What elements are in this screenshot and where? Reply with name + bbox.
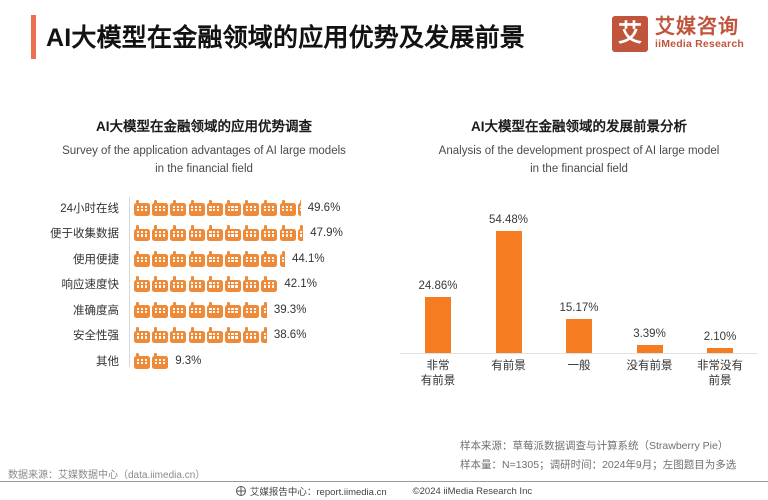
robot-icon [134, 251, 150, 267]
logo-name-cn: 艾媒咨询 [655, 17, 744, 38]
robot-icon [170, 251, 186, 267]
bar-rect [496, 231, 522, 353]
slide-page: AI大模型在金融领域的应用优势及发展前景 艾 艾媒咨询 iiMedia Rese… [0, 0, 768, 500]
robot-icon [189, 302, 205, 318]
pictogram-row: 便于收集数据47.9% [20, 220, 392, 246]
robot-icon [189, 200, 205, 216]
brand-logo: 艾 艾媒咨询 iiMedia Research [612, 16, 744, 52]
bar-rect [637, 345, 663, 353]
pictogram-row-value: 9.3% [175, 355, 201, 367]
robot-icon [152, 276, 168, 292]
robot-icon [261, 302, 267, 318]
robot-icon [261, 200, 277, 216]
robot-icon [134, 276, 150, 292]
robot-icon [243, 327, 259, 343]
robot-icon [207, 200, 223, 216]
bar-column: 15.17% [545, 193, 613, 353]
left-chart-subtitle-line1: Survey of the application advantages of … [16, 143, 392, 161]
bar-chart: 24.86%54.48%15.17%3.39%2.10% 非常有前景有前景一般没… [398, 193, 760, 381]
right-chart-subtitle: Analysis of the development prospect of … [398, 143, 760, 179]
pictogram-row-value: 39.3% [274, 304, 307, 316]
pictogram-icon-group [134, 225, 303, 241]
pictogram-row-value: 42.1% [284, 278, 317, 290]
robot-icon [225, 225, 241, 241]
robot-icon [170, 200, 186, 216]
footer-report-center[interactable]: 艾媒报告中心：report.iimedia.cn [236, 484, 387, 498]
robot-icon [243, 276, 259, 292]
right-chart-subtitle-line1: Analysis of the development prospect of … [398, 143, 760, 161]
right-chart-title: AI大模型在金融领域的发展前景分析 [398, 118, 760, 136]
bar-rect [566, 319, 592, 353]
pictogram-row-value: 44.1% [292, 253, 325, 265]
pictogram-icon-group [134, 251, 285, 267]
robot-icon [225, 327, 241, 343]
footer-copyright: ©2024 iiMedia Research Inc [413, 486, 532, 497]
pictogram-row-label: 其他 [20, 353, 129, 369]
robot-icon [170, 225, 186, 241]
pictogram-axis-line [129, 197, 130, 368]
robot-icon [243, 225, 259, 241]
robot-icon [152, 251, 168, 267]
pictogram-row-value: 47.9% [310, 227, 343, 239]
footer-copyright-label: ©2024 iiMedia Research Inc [413, 486, 532, 497]
robot-icon [170, 302, 186, 318]
robot-icon [152, 353, 168, 369]
robot-icon [243, 251, 259, 267]
robot-icon [134, 225, 150, 241]
pictogram-row-label: 安全性强 [20, 327, 129, 343]
bar-rect [425, 297, 451, 353]
page-footer: 艾媒报告中心：report.iimedia.cn ©2024 iiMedia R… [0, 482, 768, 500]
pictogram-row: 其他9.3% [20, 348, 392, 374]
pictogram-row: 使用便捷44.1% [20, 246, 392, 272]
bar-baseline [400, 353, 758, 354]
pictogram-icon-group [134, 327, 267, 343]
robot-icon [280, 225, 296, 241]
right-chart-subtitle-line2: in the financial field [398, 161, 760, 179]
bar-category-label: 有前景 [475, 359, 543, 390]
pictogram-row-label: 响应速度快 [20, 276, 129, 292]
robot-icon [298, 225, 304, 241]
pictogram-row: 准确度高39.3% [20, 297, 392, 323]
pictogram-row: 响应速度快42.1% [20, 271, 392, 297]
pictogram-row-label: 24小时在线 [20, 200, 129, 216]
pictogram-icon-group [134, 276, 277, 292]
left-chart-panel: AI大模型在金融领域的应用优势调查 Survey of the applicat… [16, 118, 392, 373]
pictogram-icon-group [134, 302, 267, 318]
left-chart-title: AI大模型在金融领域的应用优势调查 [16, 118, 392, 136]
robot-icon [298, 200, 301, 216]
pictogram-row-value: 49.6% [308, 202, 341, 214]
bar-value-label: 54.48% [489, 214, 528, 226]
robot-icon [225, 251, 241, 267]
robot-icon [152, 225, 168, 241]
pictogram-row-value: 38.6% [274, 329, 307, 341]
bar-column: 2.10% [686, 193, 754, 353]
right-chart-panel: AI大模型在金融领域的发展前景分析 Analysis of the develo… [398, 118, 760, 381]
robot-icon [207, 251, 223, 267]
bar-value-label: 15.17% [559, 302, 598, 314]
robot-icon [189, 276, 205, 292]
sample-notes: 样本来源：草莓派数据调查与计算系统（Strawberry Pie） 样本量：N=… [460, 437, 760, 476]
robot-icon [134, 353, 150, 369]
robot-icon [225, 200, 241, 216]
robot-icon [152, 327, 168, 343]
bar-category-label: 非常没有前景 [686, 359, 754, 390]
logo-mark-icon: 艾 [612, 16, 648, 52]
pictogram-row: 24小时在线49.6% [20, 195, 392, 221]
bar-value-label: 2.10% [704, 331, 737, 343]
bar-category-label: 一般 [545, 359, 613, 390]
pictogram-icon-group [134, 200, 301, 216]
robot-icon [243, 302, 259, 318]
bar-column: 24.86% [404, 193, 472, 353]
left-chart-subtitle: Survey of the application advantages of … [16, 143, 392, 179]
robot-icon [207, 327, 223, 343]
pictogram-row-label: 准确度高 [20, 302, 129, 318]
left-chart-subtitle-line2: in the financial field [16, 161, 392, 179]
bar-value-label: 24.86% [418, 280, 457, 292]
footer-report-center-label: 艾媒报告中心：report.iimedia.cn [250, 484, 387, 498]
robot-icon [189, 225, 205, 241]
pictogram-icon-group [134, 353, 168, 369]
bar-value-label: 3.39% [633, 328, 666, 340]
robot-icon [280, 251, 286, 267]
robot-icon [207, 225, 223, 241]
robot-icon [152, 200, 168, 216]
robot-icon [170, 276, 186, 292]
bar-category-label: 非常有前景 [404, 359, 472, 390]
robot-icon [170, 327, 186, 343]
bar-column: 54.48% [475, 193, 543, 353]
sample-source-note: 样本来源：草莓派数据调查与计算系统（Strawberry Pie） [460, 437, 760, 456]
pictogram-chart: 24小时在线49.6%便于收集数据47.9%使用便捷44.1%响应速度快42.1… [16, 195, 392, 374]
bar-category-labels: 非常有前景有前景一般没有前景非常没有前景 [404, 359, 754, 390]
robot-icon [261, 251, 277, 267]
title-accent-bar [31, 15, 36, 59]
bar-column: 3.39% [616, 193, 684, 353]
bar-series: 24.86%54.48%15.17%3.39%2.10% [404, 193, 754, 353]
robot-icon [152, 302, 168, 318]
pictogram-row-label: 便于收集数据 [20, 225, 129, 241]
robot-icon [207, 276, 223, 292]
robot-icon [134, 302, 150, 318]
pictogram-row-label: 使用便捷 [20, 251, 129, 267]
robot-icon [134, 327, 150, 343]
robot-icon [189, 327, 205, 343]
robot-icon [243, 200, 259, 216]
robot-icon [261, 225, 277, 241]
robot-icon [134, 200, 150, 216]
bar-category-label: 没有前景 [616, 359, 684, 390]
globe-icon [236, 486, 246, 496]
robot-icon [261, 276, 277, 292]
logo-name-en: iiMedia Research [655, 38, 744, 51]
page-title: AI大模型在金融领域的应用优势及发展前景 [46, 18, 525, 54]
robot-icon [261, 327, 267, 343]
data-source-note: 数据来源：艾媒数据中心（data.iimedia.cn） [8, 466, 205, 481]
robot-icon [225, 302, 241, 318]
page-header: AI大模型在金融领域的应用优势及发展前景 艾 艾媒咨询 iiMedia Rese… [0, 0, 768, 74]
robot-icon [280, 200, 296, 216]
robot-icon [207, 302, 223, 318]
sample-size-note: 样本量：N=1305；调研时间：2024年9月；左图题目为多选 [460, 456, 760, 475]
robot-icon [225, 276, 241, 292]
pictogram-row: 安全性强38.6% [20, 322, 392, 348]
logo-text: 艾媒咨询 iiMedia Research [655, 17, 744, 51]
robot-icon [189, 251, 205, 267]
